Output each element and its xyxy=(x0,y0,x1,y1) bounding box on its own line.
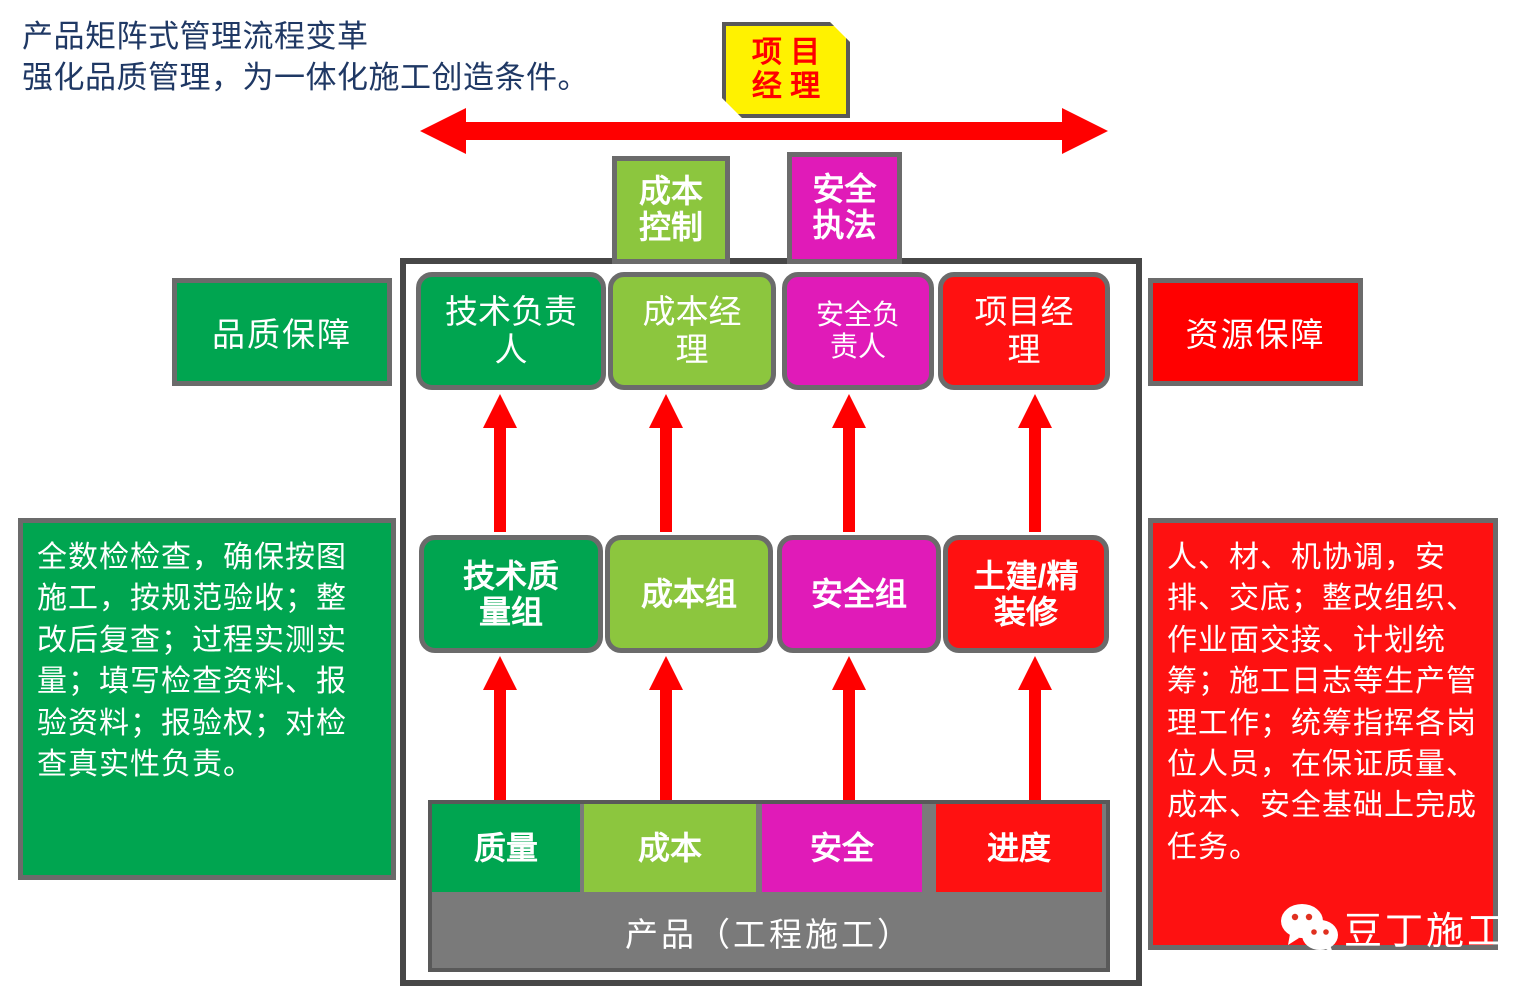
double-headed-arrow-icon xyxy=(420,108,1108,154)
panel-resource-description: 人、材、机协调，安排、交底；整改组织、作业面交接、计划统筹；施工日志等生产管理工… xyxy=(1148,518,1498,950)
title-line-2: 强化品质管理，为一体化施工创造条件。 xyxy=(22,60,589,95)
product-block: 质量 成本 安全 进度 产品（工程施工） xyxy=(428,800,1110,972)
arrow-cost-item-to-group xyxy=(649,656,683,804)
item-safety: 安全 xyxy=(762,804,922,892)
hat-box-cost-control: 成本 控制 xyxy=(612,156,730,264)
arrow-quality-item-to-group xyxy=(483,656,517,804)
arrow-cost-group-to-role xyxy=(649,394,683,532)
role-safety-manager: 安全负 责人 xyxy=(782,272,934,390)
role-safety-line-2: 责人 xyxy=(830,331,886,363)
item-quality-label: 质量 xyxy=(474,830,538,866)
item-safety-label: 安全 xyxy=(810,830,874,866)
role-pm-line-2: 理 xyxy=(1008,331,1041,369)
arrow-schedule-item-to-group xyxy=(1018,656,1052,804)
group-safety-line-1: 安全组 xyxy=(811,576,907,612)
role-technical-manager: 技术负责 人 xyxy=(416,272,606,390)
product-label: 产品（工程施工） xyxy=(432,896,1106,968)
title-line-1: 产品矩阵式管理流程变革 xyxy=(22,19,369,54)
group-tech-line-1: 技术质 xyxy=(463,558,559,594)
item-quality: 质量 xyxy=(432,804,580,892)
hat-safety-line-1: 安全 xyxy=(812,172,876,208)
panel-quality-description: 全数检检查，确保按图施工，按规范验收；整改后复查；过程实测实量；填写检查资料、报… xyxy=(18,518,396,880)
hat-box-safety-enforcement: 安全 执法 xyxy=(787,152,902,264)
role-tech-line-1: 技术负责 xyxy=(445,293,577,331)
item-schedule: 进度 xyxy=(936,804,1102,892)
group-civil-line-1: 土建/精 xyxy=(974,558,1079,594)
role-tech-line-2: 人 xyxy=(495,331,528,369)
hat-safety-line-2: 执法 xyxy=(812,208,876,244)
role-project-manager: 项目经 理 xyxy=(938,272,1110,390)
page-title: 产品矩阵式管理流程变革 强化品质管理，为一体化施工创造条件。 xyxy=(22,16,722,98)
group-civil-line-2: 装修 xyxy=(994,594,1058,630)
pm-callout-line-2: 经 理 xyxy=(752,70,820,105)
project-manager-callout: 项 目 经 理 xyxy=(722,22,850,118)
item-cost: 成本 xyxy=(584,804,756,892)
group-cost-line-1: 成本组 xyxy=(641,576,737,612)
hat-cost-line-1: 成本 xyxy=(639,174,703,210)
hat-cost-line-2: 控制 xyxy=(639,210,703,246)
group-civil-decoration: 土建/精 装修 xyxy=(943,535,1109,653)
pm-callout-line-1: 项 目 xyxy=(752,36,820,71)
banner-quality-label: 品质保障 xyxy=(212,308,352,356)
item-schedule-label: 进度 xyxy=(987,830,1051,866)
role-pm-line-1: 项目经 xyxy=(975,293,1074,331)
group-tech-line-2: 量组 xyxy=(479,594,543,630)
arrow-tech-group-to-role xyxy=(483,394,517,532)
role-cost-line-1: 成本经 xyxy=(643,293,742,331)
arrow-safety-item-to-group xyxy=(832,656,866,804)
diagram-canvas: 产品矩阵式管理流程变革 强化品质管理，为一体化施工创造条件。 项 目 经 理 品… xyxy=(0,0,1515,1000)
group-cost: 成本组 xyxy=(605,535,773,653)
group-technical-quality: 技术质 量组 xyxy=(419,535,603,653)
role-safety-line-1: 安全负 xyxy=(816,299,900,331)
banner-resource-assurance: 资源保障 xyxy=(1148,278,1363,386)
role-cost-manager: 成本经 理 xyxy=(608,272,776,390)
arrow-safety-group-to-role xyxy=(832,394,866,532)
role-cost-line-2: 理 xyxy=(676,331,709,369)
item-cost-label: 成本 xyxy=(638,830,702,866)
group-safety: 安全组 xyxy=(777,535,941,653)
banner-resource-label: 资源保障 xyxy=(1186,308,1326,356)
banner-quality-assurance: 品质保障 xyxy=(172,278,392,386)
arrow-civil-group-to-role xyxy=(1018,394,1052,532)
